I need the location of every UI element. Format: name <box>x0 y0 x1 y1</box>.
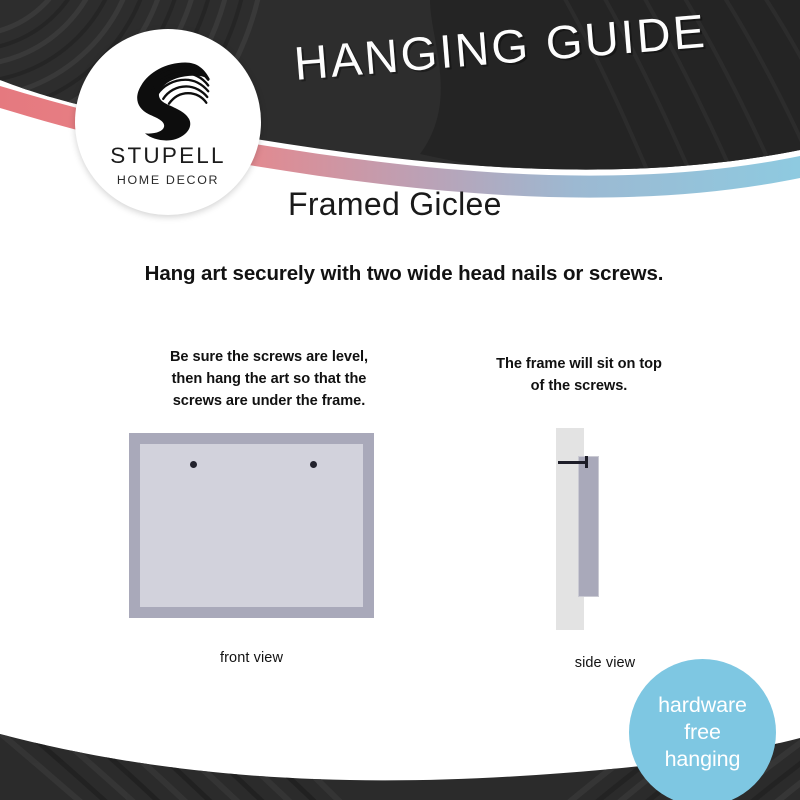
instruction-front-line-1: Be sure the screws are level, <box>125 346 413 368</box>
screw-dot-right-icon <box>310 461 317 468</box>
instruction-side-line-2: of the screws. <box>468 375 690 397</box>
lede-text: Hang art securely with two wide head nai… <box>130 262 678 286</box>
brand-name: STUPELL <box>110 145 225 168</box>
badge-line-2: free <box>684 719 721 746</box>
side-view-frame <box>578 456 599 597</box>
instruction-side: The frame will sit on top of the screws. <box>468 353 690 397</box>
screw-dot-left-icon <box>190 461 197 468</box>
front-view-diagram <box>129 433 374 618</box>
front-view-artwork-area <box>140 444 363 607</box>
hanging-guide-page: STUPELL HOME DECOR HANGING GUIDE Framed … <box>0 0 800 800</box>
instruction-front-line-3: screws are under the frame. <box>125 390 413 412</box>
front-view-caption: front view <box>129 650 374 666</box>
instruction-side-line-1: The frame will sit on top <box>468 353 690 375</box>
side-view-screw-head-icon <box>585 456 588 468</box>
brand-tagline: HOME DECOR <box>117 174 219 186</box>
badge-line-1: hardware <box>658 692 747 719</box>
product-title: Framed Giclee <box>288 186 502 223</box>
brand-logo-badge: STUPELL HOME DECOR <box>75 29 261 215</box>
instruction-front-line-2: then hang the art so that the <box>125 368 413 390</box>
side-view-screw-shaft-icon <box>558 461 586 464</box>
badge-line-3: hanging <box>665 746 741 773</box>
instruction-front: Be sure the screws are level, then hang … <box>125 346 413 413</box>
stupell-s-swoosh-logo-icon <box>120 51 216 143</box>
hardware-free-badge: hardware free hanging <box>629 659 776 800</box>
side-view-diagram <box>550 428 660 638</box>
